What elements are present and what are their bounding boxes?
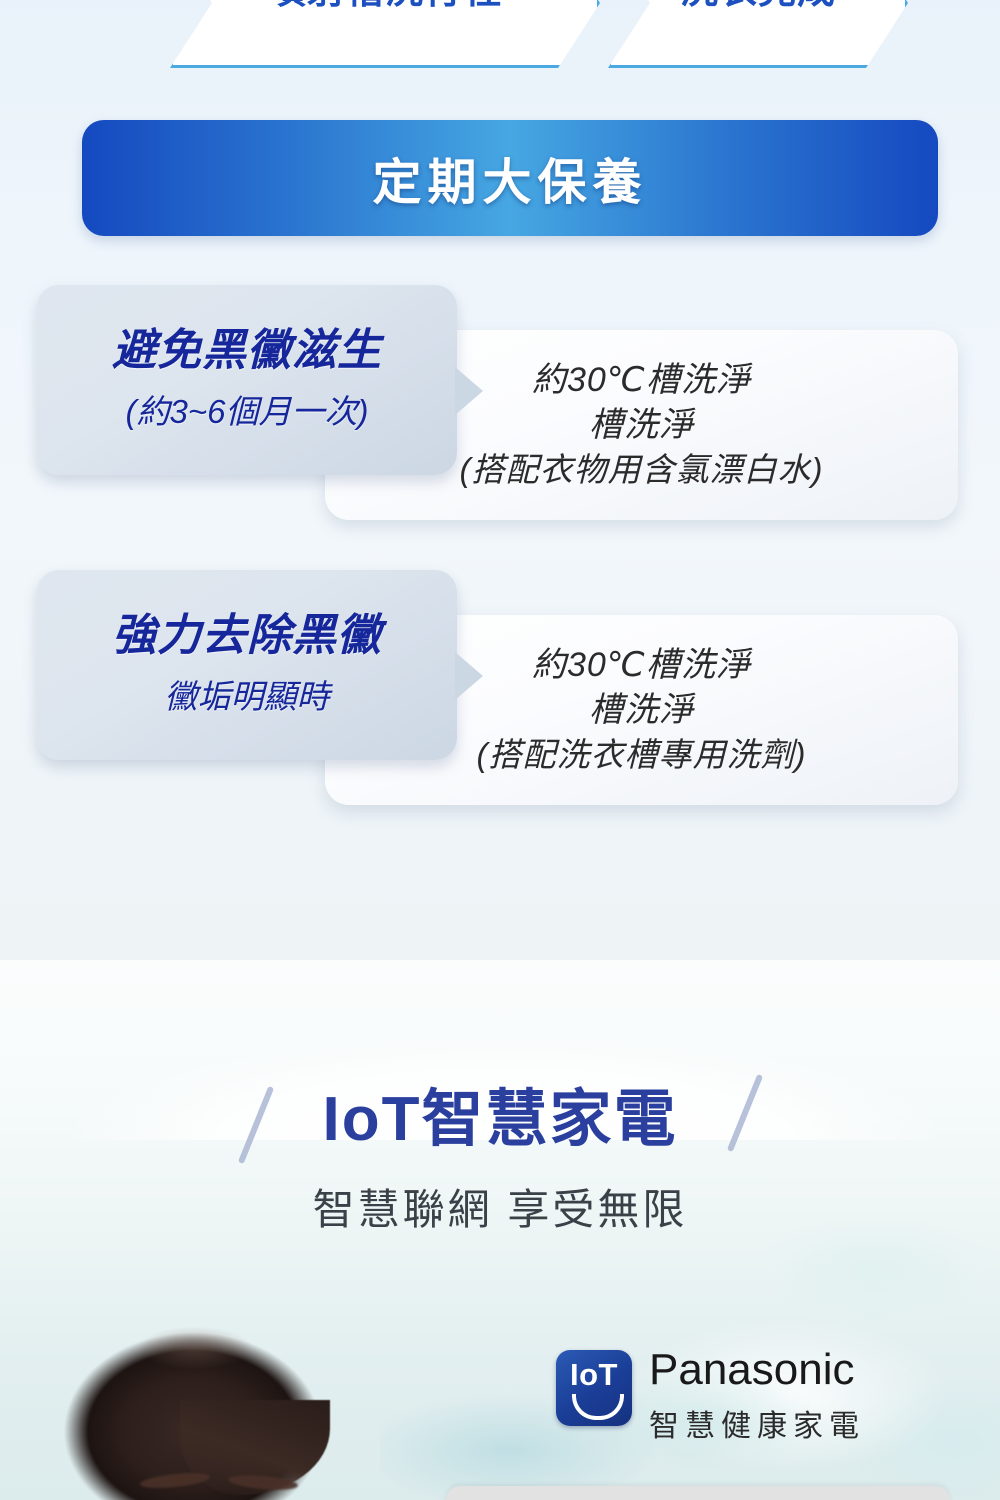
logo-words: Panasonic 智慧健康家電 xyxy=(649,1348,865,1445)
iot-badge-label: IoT xyxy=(556,1359,632,1390)
maintenance-row: 約30℃槽洗淨 槽洗淨 (搭配衣物用含氯漂白水) 避免黑黴滋生 (約3~6個月一… xyxy=(0,285,1000,525)
detail-line: 約30℃槽洗淨 xyxy=(532,358,751,403)
detail-line: 槽洗淨 xyxy=(589,403,694,448)
iot-title: IoT智慧家電 xyxy=(323,1068,678,1158)
purpose-subtitle: 黴垢明顯時 xyxy=(165,670,330,718)
iot-subtitle: 智慧聯網 享受無限 xyxy=(0,1176,1000,1237)
purpose-subtitle: (約3~6個月一次) xyxy=(126,385,369,433)
iot-section: IoT智慧家電 智慧聯網 享受無限 xyxy=(0,1070,1000,1237)
maintenance-banner: 定期大保養 xyxy=(82,120,938,236)
brand-name: Panasonic xyxy=(649,1348,865,1392)
process-step-spray-tub-wash: 噴射槽洗行程 xyxy=(170,0,600,68)
bottom-panel xyxy=(446,1486,950,1500)
smile-icon xyxy=(572,1394,624,1420)
purpose-title: 避免黑黴滋生 xyxy=(112,327,382,375)
detail-line: (搭配洗衣槽專用洗劑) xyxy=(477,733,807,777)
slash-right-icon xyxy=(727,1074,763,1152)
process-step-wash-complete: 洗衣完成 xyxy=(608,0,908,68)
detail-line: 槽洗淨 xyxy=(589,688,694,733)
process-step-label: 噴射槽洗行程 xyxy=(268,0,502,10)
process-step-label: 洗衣完成 xyxy=(680,0,836,10)
purpose-title: 強力去除黑黴 xyxy=(112,612,382,660)
detail-line: 約30℃槽洗淨 xyxy=(532,643,751,688)
panasonic-iot-logo-lockup: IoT Panasonic 智慧健康家電 xyxy=(556,1348,896,1448)
maintenance-banner-label: 定期大保養 xyxy=(372,143,647,214)
iot-badge-icon: IoT xyxy=(556,1350,632,1426)
maintenance-row: 約30℃槽洗淨 槽洗淨 (搭配洗衣槽專用洗劑) 強力去除黑黴 黴垢明顯時 xyxy=(0,570,1000,810)
detail-line: (搭配衣物用含氯漂白水) xyxy=(460,448,824,492)
slash-left-icon xyxy=(238,1086,274,1164)
iot-title-wrap: IoT智慧家電 xyxy=(0,1070,1000,1156)
maintenance-purpose-card: 避免黑黴滋生 (約3~6個月一次) xyxy=(37,285,457,475)
maintenance-purpose-card: 強力去除黑黴 黴垢明顯時 xyxy=(37,570,457,760)
person-hair-highlight xyxy=(120,1318,270,1378)
promo-page: 噴射槽洗行程 洗衣完成 定期大保養 約30℃槽洗淨 槽洗淨 (搭配衣物用含氯漂白… xyxy=(0,0,1000,1500)
brand-subtitle: 智慧健康家電 xyxy=(649,1401,865,1445)
